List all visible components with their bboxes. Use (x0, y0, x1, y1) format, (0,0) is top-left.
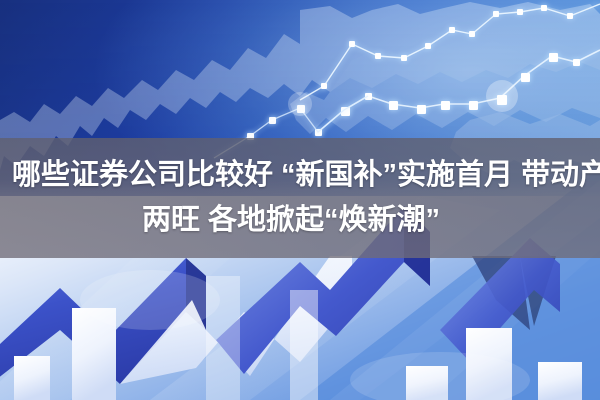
bar-column (14, 356, 50, 400)
headline-line-2: 两旺 各地掀起“焕新潮” (6, 198, 594, 243)
glow-blob (80, 270, 220, 330)
headline-band: 哪些证券公司比较好 “新国补”实施首月 带动产销 两旺 各地掀起“焕新潮” (0, 138, 600, 258)
slab-highlight (290, 290, 318, 400)
bar-column (538, 362, 582, 400)
headline-line-1: 哪些证券公司比较好 “新国补”实施首月 带动产销 (6, 153, 594, 198)
news-banner: -50.02 -02.36 21.05 8.15 -02.35 45.02 -1… (0, 0, 600, 400)
